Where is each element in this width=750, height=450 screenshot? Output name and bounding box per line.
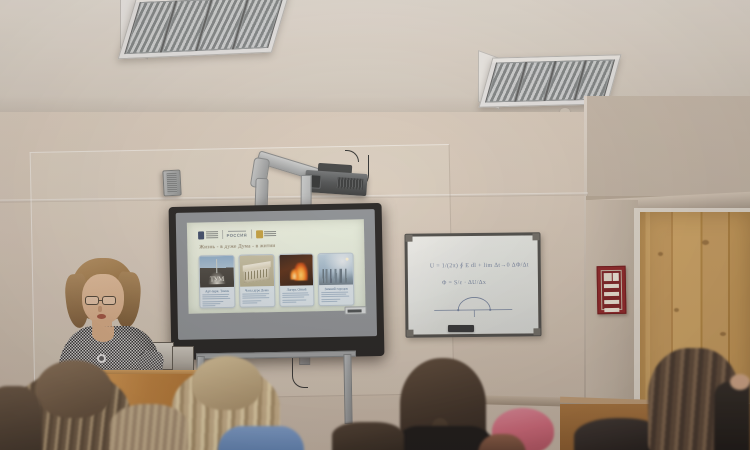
audience [0,330,750,450]
list-item [110,404,188,450]
card-building-text [240,293,274,303]
whiteboard-notes: U = 1/(2π) ∮ E dl + lim Δt→0 ΔΦ/Δt Φ = S… [407,235,538,334]
glasses-icon [85,296,99,305]
card-building-image [239,255,273,287]
list-item [192,356,262,410]
card-fire-image [279,254,313,286]
card-building[interactable]: Часы дуре Дома [238,254,275,308]
university-logo-icon [256,229,277,237]
rossiya-logo-icon: РОССИЯ [227,231,248,238]
list-item [332,422,404,450]
rossiya-logo-text: РОССИЯ [227,233,248,238]
list-item [218,426,304,450]
photo-scene: U = 1/(2π) ∮ E dl + lim Δt→0 ΔΦ/Δt Φ = S… [0,0,750,450]
whiteboard-equation-1: U = 1/(2π) ∮ E dl + lim Δt→0 ΔΦ/Δt [430,261,529,269]
card-city-image [319,254,353,286]
list-item [714,382,750,450]
whiteboard-diagram-icon [432,292,516,319]
card-city-text [319,292,353,302]
card-city[interactable]: Зимний городок [318,253,355,307]
list-item [36,360,112,418]
presenter-mouth [97,314,106,319]
card-monument-image: ТУМ [200,256,234,288]
projector-vent-icon [337,177,364,190]
logo-divider [222,230,223,239]
board-brand-plate [344,306,366,314]
whiteboard[interactable]: U = 1/(2π) ∮ E dl + lim Δt→0 ΔΦ/Δt Φ = S… [404,232,541,337]
wall-speaker [162,170,181,197]
card-monument-glyph: ТУМ [210,275,224,283]
ceiling-light-left [118,0,291,59]
glasses-bridge-icon [99,300,103,301]
light-louver-lens [124,0,284,54]
notice-inner [601,270,623,310]
status-badge[interactable] [597,266,627,314]
speaker-grill-icon [166,173,177,193]
presenter-nose [98,306,102,312]
slide-logo-row: РОССИЯ [198,227,350,241]
card-fire[interactable]: Лагерь Огней [278,253,315,307]
card-monument[interactable]: ТУМ Арт-парк. Томск [198,255,235,309]
list-item [0,386,42,450]
list-item [730,374,750,390]
board-inner-frame: РОССИЯ Жизнь - в дуже Дума - в житии ТУМ [176,209,377,340]
slide-card-row: ТУМ Арт-парк. Томск Часы дуре Дома [198,253,354,309]
ministry-logo-icon [198,231,218,239]
whiteboard-equation-2: Φ = S/ε · ΔU/Δx [442,280,486,286]
card-fire-text [280,292,314,302]
logo-divider [251,229,252,238]
card-monument-text [200,294,234,307]
glasses-icon [102,296,116,305]
slide-title: Жизнь - в дуже Дума - в житии [199,243,275,250]
projection-screen[interactable]: РОССИЯ Жизнь - в дуже Дума - в житии ТУМ [187,219,366,313]
projector[interactable] [304,170,367,196]
